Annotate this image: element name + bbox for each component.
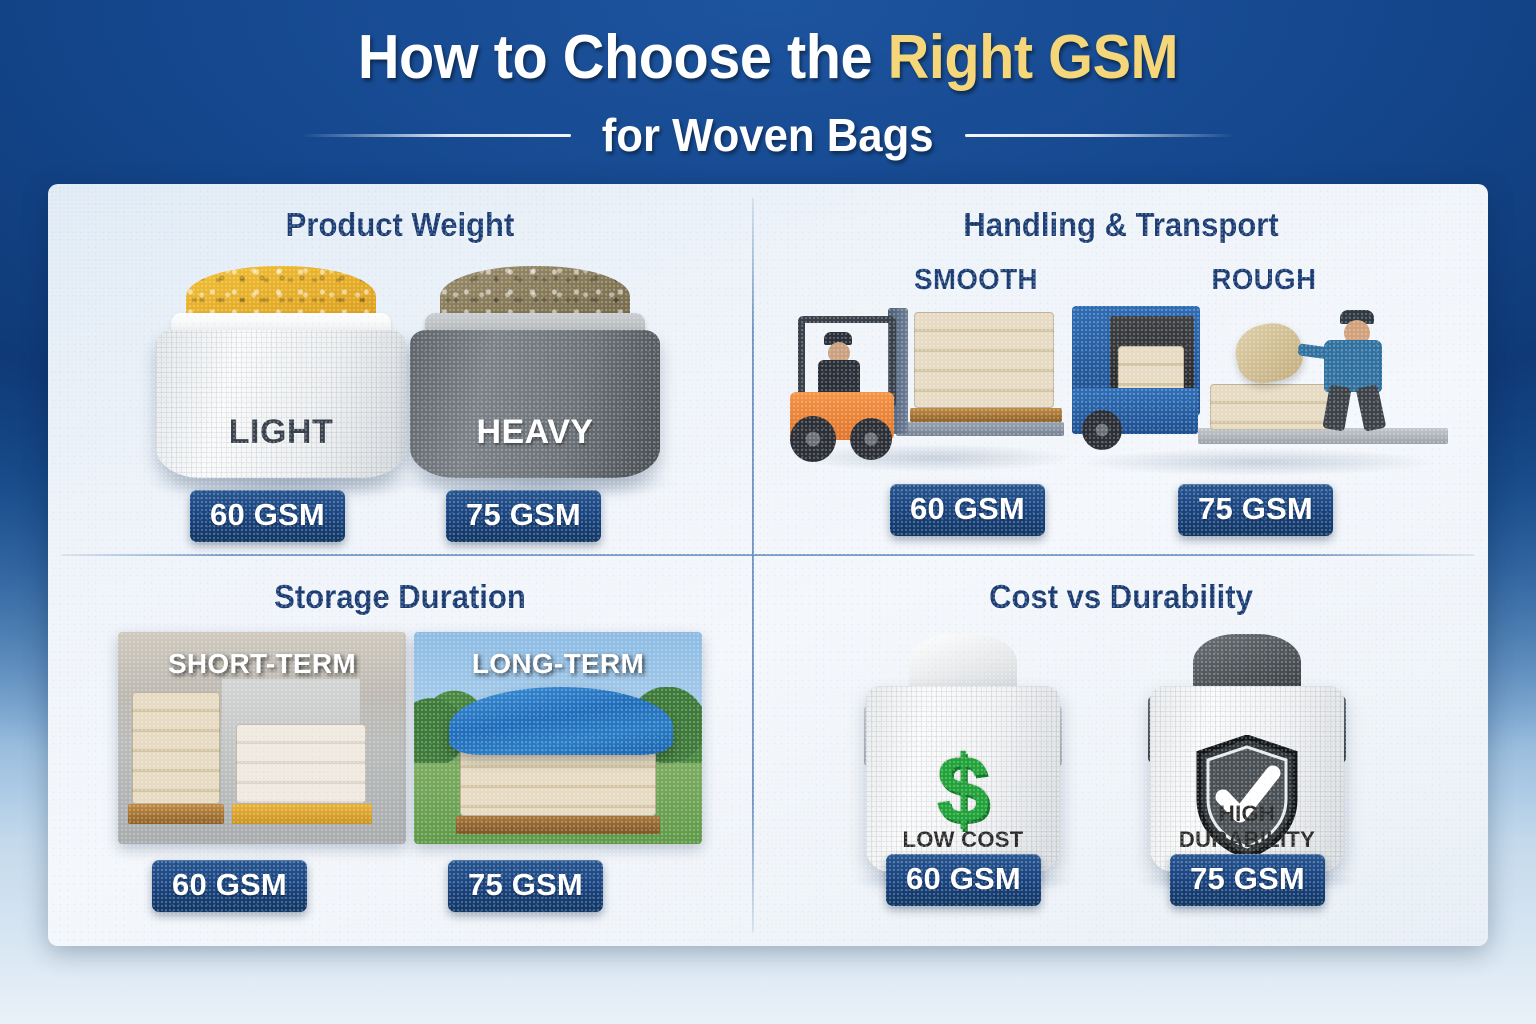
forklift-pallet <box>910 408 1062 422</box>
sack-in-air <box>1231 318 1308 388</box>
gsm-badge-smooth[interactable]: 60 GSM <box>890 484 1045 536</box>
infographic-canvas: How to Choose the Right GSM for Woven Ba… <box>0 0 1536 1024</box>
page-title: How to Choose the Right GSM <box>54 22 1482 93</box>
sack-body-light: LIGHT <box>156 330 406 478</box>
subtitle-row: for Woven Bags <box>0 108 1536 162</box>
quadrant-title-handling-transport: Handling & Transport <box>776 206 1466 244</box>
truck-wheel <box>1082 410 1122 450</box>
tile-label-long-term: LONG-TERM <box>414 648 702 680</box>
header: How to Choose the Right GSM for Woven Ba… <box>0 0 1536 182</box>
bag-low-cost: $ LOW COST <box>866 634 1060 872</box>
sack-label-light: LIGHT <box>156 413 406 452</box>
forklift-pallet-sacks <box>914 312 1054 408</box>
gsm-badge-short-term[interactable]: 60 GSM <box>152 860 307 912</box>
bag-label-low-cost: LOW COST <box>866 827 1060 853</box>
sack-body-heavy: HEAVY <box>410 330 660 478</box>
label-smooth: SMOOTH <box>872 264 1081 297</box>
quadrant-product-weight: Product Weight LIGHT HEAVY 60 GSM <box>48 184 752 554</box>
gsm-badge-rough[interactable]: 75 GSM <box>1178 484 1333 536</box>
subtitle-rule-left <box>301 134 571 137</box>
quadrant-cost-vs-durability: Cost vs Durability $ LOW COST <box>754 556 1488 946</box>
forklift-wheel-rear <box>850 418 892 460</box>
forklift-wheel-front <box>790 416 836 462</box>
quadrant-title-cost-durability: Cost vs Durability <box>776 578 1466 616</box>
quadrant-title-product-weight: Product Weight <box>69 206 731 244</box>
label-rough: ROUGH <box>1160 264 1369 297</box>
quadrant-storage-duration: Storage Duration SHORT-TERM LONG-TERM 6 <box>48 556 752 946</box>
gsm-badge-heavy[interactable]: 75 GSM <box>446 490 601 542</box>
quadrant-handling-transport: Handling & Transport SMOOTH ROUGH <box>754 184 1488 554</box>
subtitle-rule-right <box>965 134 1235 137</box>
title-text: How to Choose the <box>358 23 888 92</box>
dollar-icon: $ <box>866 742 1060 838</box>
sack-heavy: HEAVY <box>410 266 660 478</box>
photo-long-term: LONG-TERM <box>414 632 702 844</box>
bag-label-high-durability: HIGH DURABILITY <box>1150 801 1344 853</box>
gsm-badge-high-durability[interactable]: 75 GSM <box>1170 854 1325 906</box>
gsm-badge-low-cost[interactable]: 60 GSM <box>886 854 1041 906</box>
sack-label-heavy: HEAVY <box>410 413 660 452</box>
quadrant-title-storage-duration: Storage Duration <box>69 578 731 616</box>
tile-label-short-term: SHORT-TERM <box>118 648 406 680</box>
sack-light: LIGHT <box>156 266 406 478</box>
photo-short-term: SHORT-TERM <box>118 632 406 844</box>
bag-high-durability: HIGH DURABILITY <box>1150 634 1344 872</box>
flatbed-trailer <box>1198 428 1448 444</box>
illustration-forklift <box>784 304 1084 474</box>
illustration-truck-loading <box>1072 302 1452 478</box>
gsm-badge-long-term[interactable]: 75 GSM <box>448 860 603 912</box>
page-subtitle: for Woven Bags <box>602 108 934 162</box>
title-highlight: Right GSM <box>888 23 1178 92</box>
flatbed-sacks <box>1210 384 1330 430</box>
gsm-badge-light[interactable]: 60 GSM <box>190 490 345 542</box>
content-panel: Product Weight LIGHT HEAVY 60 GSM <box>48 184 1488 946</box>
